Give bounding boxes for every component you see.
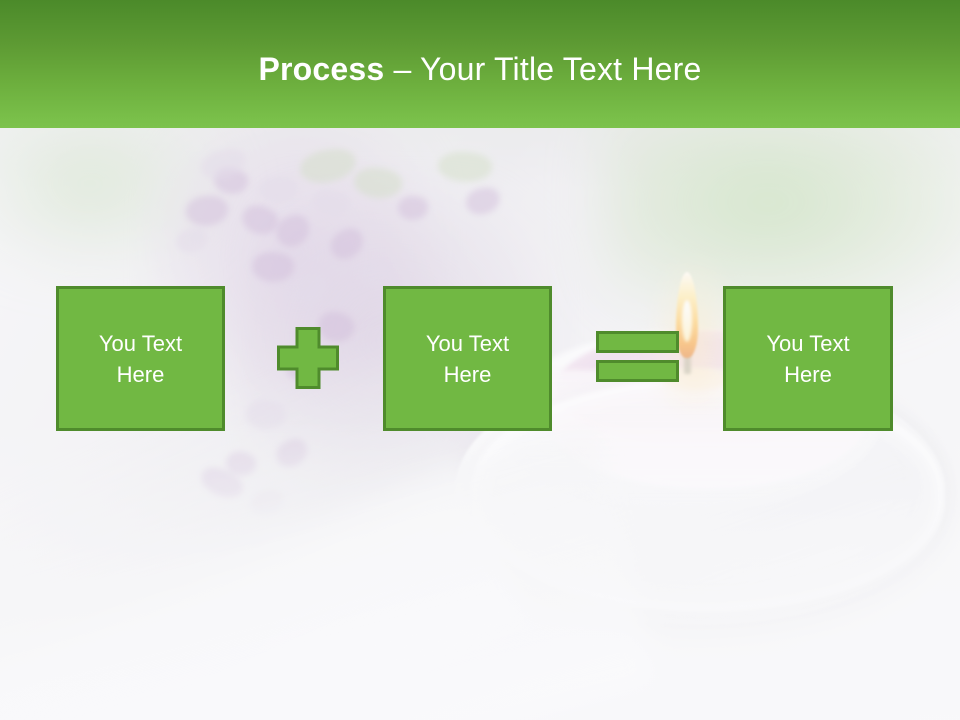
page-title-strong: Process xyxy=(258,51,384,87)
process-box-3-label: You Text Here xyxy=(766,328,849,390)
process-box-3[interactable]: You Text Here xyxy=(723,286,893,431)
plus-icon-shape xyxy=(277,327,339,389)
process-box-2-label: You Text Here xyxy=(426,328,509,390)
equals-bar-top xyxy=(596,331,679,353)
process-box-2[interactable]: You Text Here xyxy=(383,286,552,431)
page-title: Process – Your Title Text Here xyxy=(0,51,960,87)
plus-operator-icon xyxy=(277,327,339,389)
page-title-rest: – Your Title Text Here xyxy=(384,51,701,87)
header-band: Process – Your Title Text Here xyxy=(0,0,960,128)
process-box-1[interactable]: You Text Here xyxy=(56,286,225,431)
slide-canvas: Process – Your Title Text Here You Text … xyxy=(0,0,960,720)
process-box-1-label: You Text Here xyxy=(99,328,182,390)
equals-bar-bottom xyxy=(596,360,679,382)
equals-operator-icon xyxy=(596,331,679,382)
